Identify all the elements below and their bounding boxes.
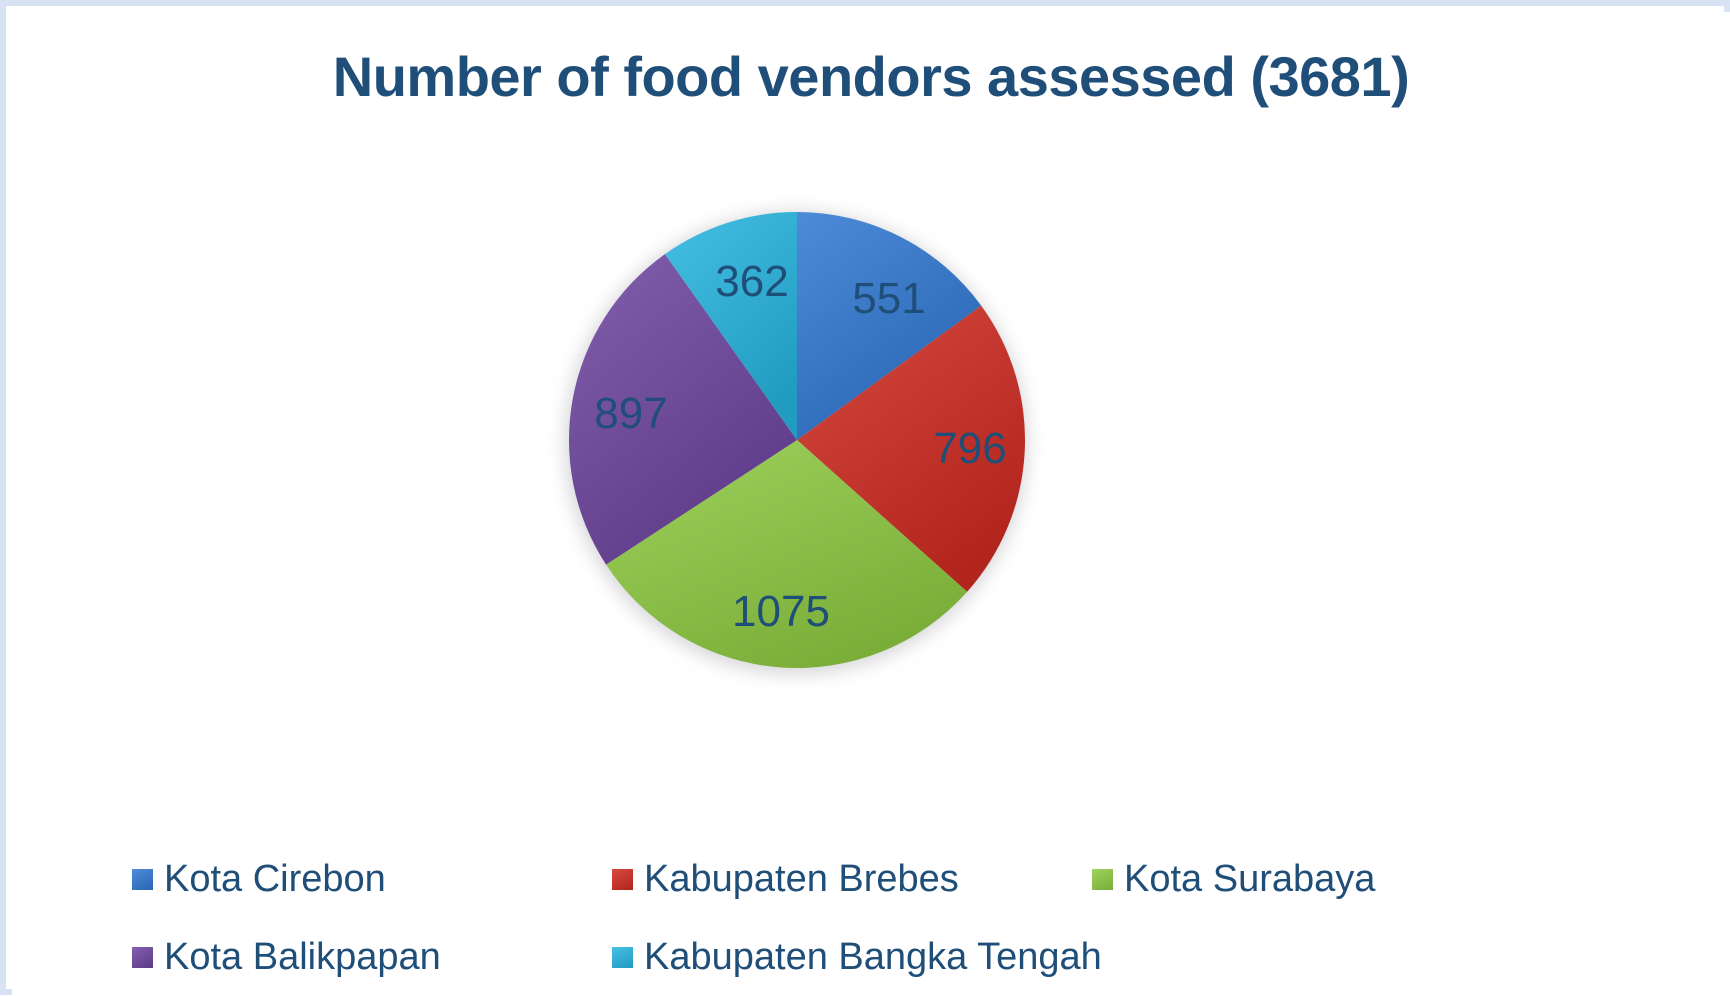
legend-swatch-icon [1092, 869, 1113, 890]
pie-data-label: 1075 [732, 587, 830, 637]
legend-swatch-icon [132, 869, 153, 890]
legend-label: Kota Cirebon [164, 860, 386, 898]
chart-title: Number of food vendors assessed (3681) [12, 44, 1730, 109]
slide-frame: Number of food vendors assessed (3681) 5… [0, 0, 1730, 995]
legend-row: Kota CirebonKabupaten BrebesKota Surabay… [132, 840, 1632, 918]
legend-label: Kota Balikpapan [164, 938, 441, 976]
legend-label: Kota Surabaya [1124, 860, 1375, 898]
pie-data-label: 362 [715, 257, 788, 307]
legend-row: Kota BalikpapanKabupaten Bangka Tengah [132, 918, 1632, 996]
legend-label: Kabupaten Bangka Tengah [644, 938, 1102, 976]
legend-item[interactable]: Kota Balikpapan [132, 918, 612, 996]
legend: Kota CirebonKabupaten BrebesKota Surabay… [132, 840, 1632, 996]
legend-item[interactable]: Kabupaten Bangka Tengah [612, 918, 1092, 996]
legend-item[interactable]: Kota Surabaya [1092, 840, 1572, 918]
legend-item[interactable]: Kota Cirebon [132, 840, 612, 918]
pie-data-label: 796 [933, 424, 1006, 474]
legend-swatch-icon [132, 947, 153, 968]
legend-label: Kabupaten Brebes [644, 860, 959, 898]
legend-swatch-icon [612, 869, 633, 890]
legend-swatch-icon [612, 947, 633, 968]
pie-chart: 5517961075897362 [559, 202, 1049, 692]
pie-data-label: 551 [852, 274, 925, 324]
legend-item[interactable]: Kabupaten Brebes [612, 840, 1092, 918]
pie-data-label: 897 [594, 389, 667, 439]
chart-canvas: Number of food vendors assessed (3681) 5… [12, 12, 1730, 995]
